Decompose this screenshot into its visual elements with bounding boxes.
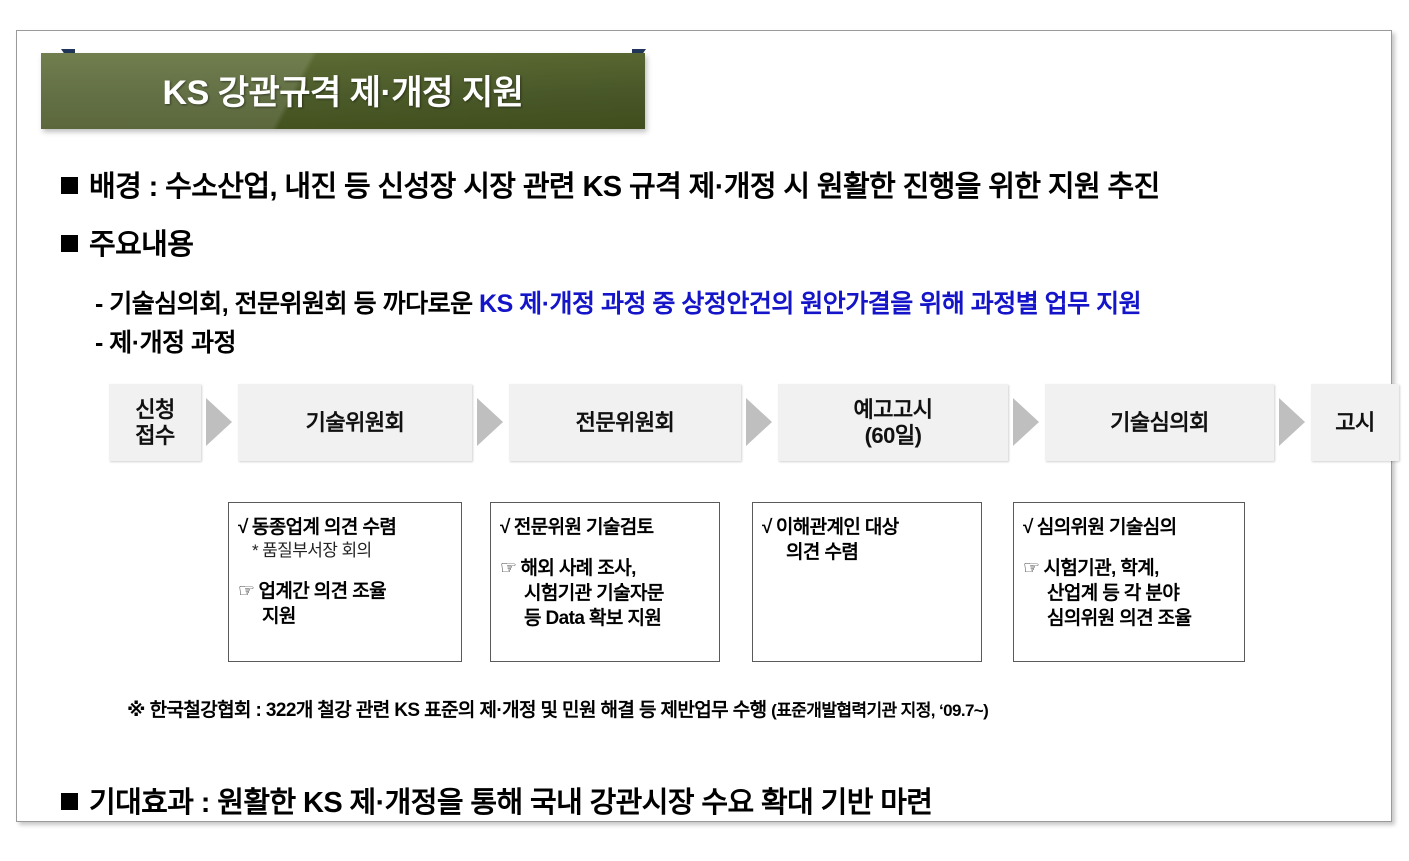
detail-0-hand-line: ☞업계간 의견 조율 [238, 579, 452, 604]
check-glyph-icon: √ [1023, 517, 1033, 538]
effect-text: 기대효과 : 원활한 KS 제·개정을 통해 국내 강관시장 수요 확대 기반 … [89, 787, 932, 819]
main-bullet-1-highlight: KS 제·개정 과정 중 상정안건의 원안가결을 위해 과정별 업무 지원 [479, 290, 1141, 318]
main-bullet-1: - 기술심의회, 전문위원회 등 까다로운 KS 제·개정 과정 중 상정안건의… [95, 284, 1141, 320]
detail-2-check-line: √이해관계인 대상 [762, 515, 972, 540]
main-content-heading: 주요내용 [89, 229, 193, 261]
main-bullet-2: - 제·개정 과정 [95, 323, 236, 359]
detail-3-hand-line2: 산업계 등 각 분야 [1023, 581, 1235, 606]
square-bullet-icon [61, 235, 78, 252]
main-bullet-1-plain: 기술심의회, 전문위원회 등 까다로운 [109, 290, 479, 318]
page-title: KS 강관규격 제·개정 지원 [41, 65, 645, 114]
flow-step-1-line1: 기술위원회 [306, 410, 405, 436]
flow-arrow-0-icon [206, 398, 232, 446]
footnote-text: 한국철강협회 : 322개 철강 관련 KS 표준의 제·개정 및 민원 해결 … [150, 700, 767, 721]
pointing-hand-icon: ☞ [1023, 558, 1039, 579]
flow-step-2: 전문위원회 [509, 384, 741, 461]
check-glyph-icon: √ [762, 517, 772, 538]
title-banner: KS 강관규격 제·개정 지원 [41, 53, 645, 129]
detail-0-hand-line1: 업계간 의견 조율 [258, 581, 386, 602]
detail-box-1: √전문위원 기술검토 ☞해외 사례 조사, 시험기관 기술자문 등 Data 확… [490, 502, 720, 662]
detail-3-check-line: √심의위원 기술심의 [1023, 515, 1235, 540]
footnote-paren: (표준개발협력기관 지정, ‘09.7~) [771, 701, 988, 720]
main-bullet-2-plain: 제·개정 과정 [109, 329, 236, 357]
process-flow: 신청 접수 기술위원회 전문위원회 예고고시 (60일) 기술심 [109, 384, 1359, 461]
flow-step-4: 기술심의회 [1045, 384, 1274, 461]
square-bullet-icon [61, 177, 78, 194]
flow-step-0-line2: 접수 [135, 423, 174, 449]
detail-1-check-line: √전문위원 기술검토 [500, 515, 710, 540]
check-glyph-icon: √ [238, 517, 248, 538]
footnote-marker-icon: ※ [127, 700, 145, 721]
detail-box-0: √동종업계 의견 수렴 * 품질부서장 회의 ☞업계간 의견 조율 지원 [228, 502, 462, 662]
flow-step-3-line2: (60일) [854, 423, 933, 449]
flow-arrow-1-icon [477, 398, 503, 446]
detail-1-hand-line2: 시험기관 기술자문 [500, 581, 710, 606]
detail-3-check-text: 심의위원 기술심의 [1037, 517, 1177, 538]
flow-step-2-line1: 전문위원회 [576, 410, 675, 436]
background-text: 배경 : 수소산업, 내진 등 신성장 시장 관련 KS 규격 제·개정 시 원… [89, 171, 1160, 203]
detail-1-hand-line3: 등 Data 확보 지원 [500, 606, 710, 631]
flow-step-3: 예고고시 (60일) [778, 384, 1008, 461]
detail-2-check-line2: 의견 수렴 [762, 540, 972, 565]
detail-3-hand-line1: 시험기관, 학계, [1043, 558, 1158, 579]
detail-3-hand-line: ☞시험기관, 학계, [1023, 556, 1235, 581]
detail-0-check-line: √동종업계 의견 수렴 [238, 515, 452, 540]
main-content-heading-row: 주요내용 [61, 221, 193, 263]
detail-0-check-text: 동종업계 의견 수렴 [252, 517, 396, 538]
flow-step-0: 신청 접수 [109, 384, 201, 461]
flow-step-0-line1: 신청 [135, 397, 174, 423]
detail-3-hand-line3: 심의위원 의견 조율 [1023, 606, 1235, 631]
detail-0-hand-line2: 지원 [238, 604, 452, 629]
footnote: ※ 한국철강협회 : 322개 철강 관련 KS 표준의 제·개정 및 민원 해… [127, 695, 988, 722]
detail-2-check-text: 이해관계인 대상 [776, 517, 899, 538]
pointing-hand-icon: ☞ [500, 558, 516, 579]
pointing-hand-icon: ☞ [238, 581, 254, 602]
detail-box-2: √이해관계인 대상 의견 수렴 [752, 502, 982, 662]
check-glyph-icon: √ [500, 517, 510, 538]
flow-step-1: 기술위원회 [238, 384, 472, 461]
detail-0-sub-note: * 품질부서장 회의 [238, 540, 452, 562]
flow-step-5-line1: 고시 [1335, 410, 1374, 436]
detail-1-hand-line1: 해외 사례 조사, [520, 558, 635, 579]
dash-marker: - [95, 290, 103, 318]
flow-arrow-2-icon [746, 398, 772, 446]
effect-row: 기대효과 : 원활한 KS 제·개정을 통해 국내 강관시장 수요 확대 기반 … [61, 779, 932, 821]
flow-step-4-line1: 기술심의회 [1110, 410, 1209, 436]
background-row: 배경 : 수소산업, 내진 등 신성장 시장 관련 KS 규격 제·개정 시 원… [61, 163, 1160, 205]
flow-arrow-4-icon [1279, 398, 1305, 446]
slide-canvas: KS 강관규격 제·개정 지원 배경 : 수소산업, 내진 등 신성장 시장 관… [16, 30, 1392, 822]
dash-marker: - [95, 329, 103, 357]
flow-step-3-line1: 예고고시 [854, 397, 933, 423]
detail-1-check-text: 전문위원 기술검토 [514, 517, 654, 538]
detail-1-hand-line: ☞해외 사례 조사, [500, 556, 710, 581]
detail-box-3: √심의위원 기술심의 ☞시험기관, 학계, 산업계 등 각 분야 심의위원 의견… [1013, 502, 1245, 662]
square-bullet-icon [61, 793, 78, 810]
flow-step-5: 고시 [1311, 384, 1399, 461]
flow-arrow-3-icon [1013, 398, 1039, 446]
